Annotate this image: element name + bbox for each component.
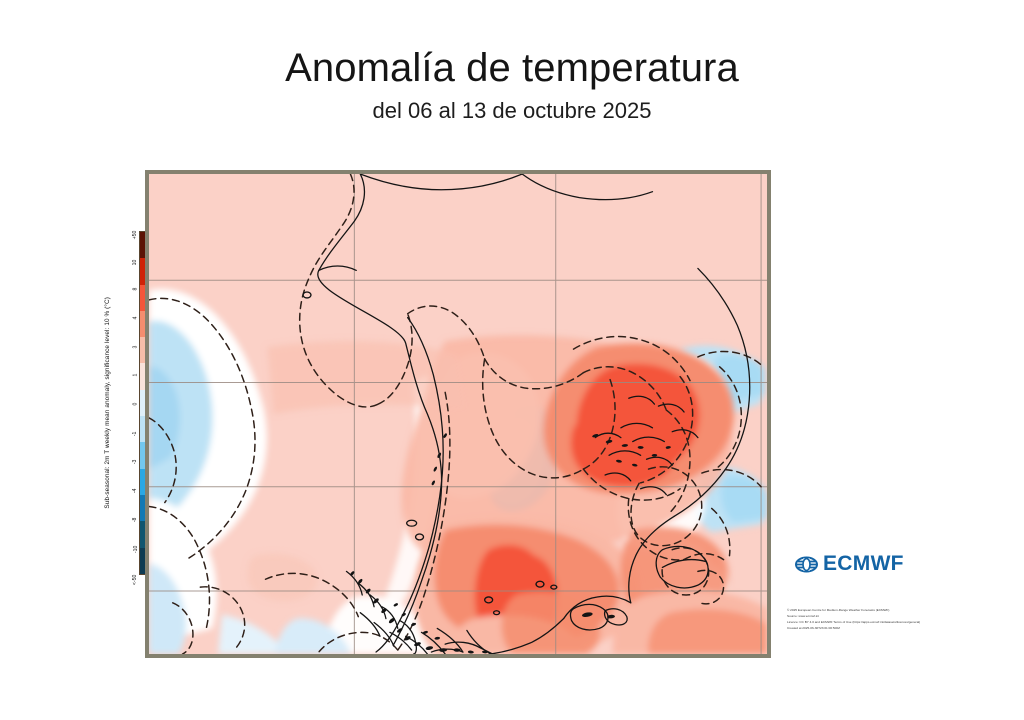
- colorbar-tick: -8: [133, 517, 138, 522]
- weather-map-page: Anomalía de temperatura del 06 al 13 de …: [0, 0, 1024, 720]
- page-title: Anomalía de temperatura: [0, 46, 1024, 91]
- colorbar-tick: <-50: [133, 575, 138, 586]
- page-subtitle: del 06 al 13 de octubre 2025: [0, 98, 1024, 124]
- copyright-credit: © 2025 European Centre for Medium-Range …: [787, 607, 982, 631]
- colorbar-tick: 0: [133, 403, 138, 406]
- title-block: Anomalía de temperatura del 06 al 13 de …: [0, 46, 1024, 124]
- colorbar-tick: 4: [133, 317, 138, 320]
- colorbar-tick: -4: [133, 489, 138, 494]
- ecmwf-logo: ECMWF: [795, 552, 904, 576]
- colorbar-tick: -3: [133, 460, 138, 465]
- colorbar-tick: 3: [133, 345, 138, 348]
- colorbar-tick-labels: +501084310-1-3-4-8-10<-50: [108, 231, 137, 575]
- colorbar-tick: 8: [133, 288, 138, 291]
- colorbar-tick: 10: [133, 259, 138, 265]
- map-canvas[interactable]: [145, 170, 771, 658]
- colorbar-tick: -10: [133, 546, 138, 554]
- ecmwf-mark-icon: [795, 556, 818, 573]
- anomaly-field: [149, 174, 767, 654]
- ecmwf-logo-text: ECMWF: [823, 552, 904, 576]
- colorbar-tick: 1: [133, 374, 138, 377]
- anomaly-map-svg: [149, 174, 767, 654]
- colorbar-tick: +50: [133, 231, 138, 240]
- figure-panel: Sub-seasonal: 2m T weekly mean anomaly, …: [80, 165, 780, 665]
- colorbar-tick: -1: [133, 431, 138, 436]
- credit-line: Created at 2025-06-30T23:01:00:500Z: [787, 625, 982, 631]
